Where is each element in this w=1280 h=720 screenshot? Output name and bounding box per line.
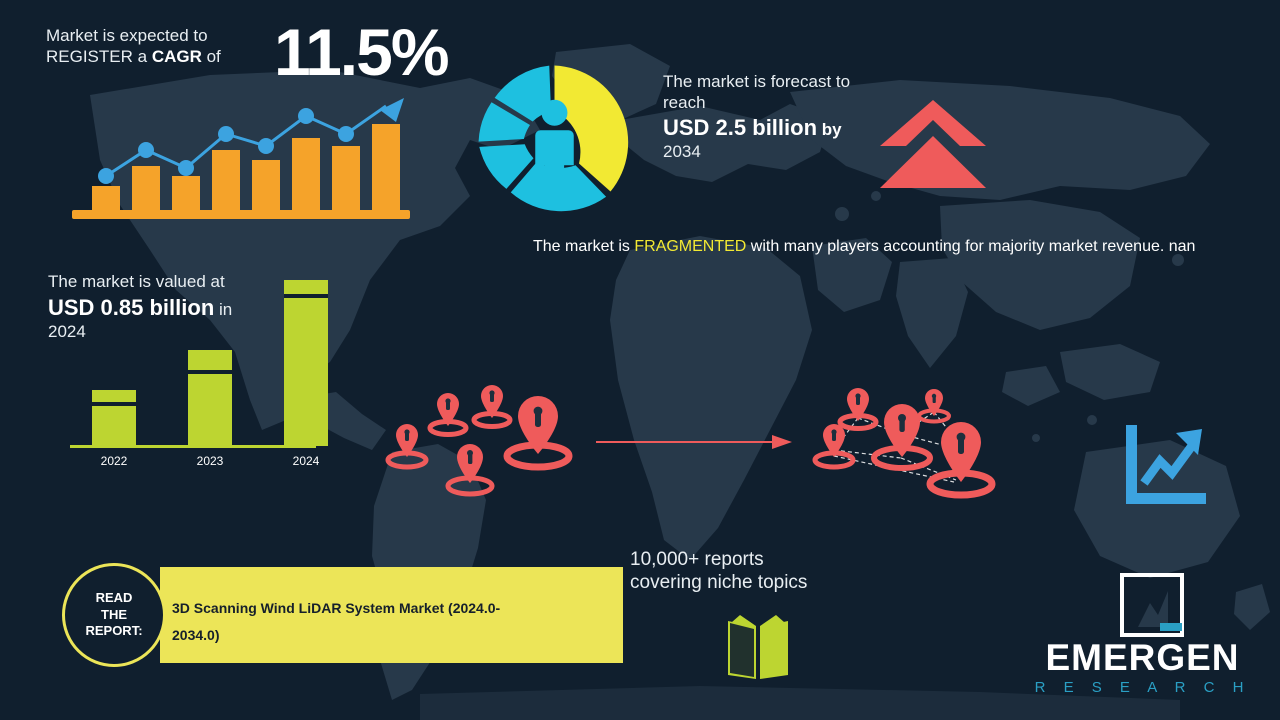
map-pin-icon	[919, 389, 949, 422]
map-pin-icon	[388, 424, 426, 467]
bar-label-2024: 2024	[284, 454, 328, 468]
forecast-block: The market is forecast to reach USD 2.5 …	[663, 72, 888, 163]
fragmentation-donut-chart	[467, 55, 642, 230]
cagr-block: Market is expected to REGISTER a CAGR of…	[46, 20, 466, 67]
logo-subtitle: R E S E A R C H	[1020, 679, 1265, 696]
bar-label-2022: 2022	[92, 454, 136, 468]
reports-block: 10,000+ reports covering niche topics	[630, 548, 880, 594]
cta-line1: READ	[96, 590, 133, 605]
fragmented-keyword: FRAGMENTED	[634, 238, 746, 255]
bar-group-2023: 2023	[188, 344, 232, 446]
forecast-value: USD 2.5 billion	[663, 115, 817, 140]
read-report-badge[interactable]: READ THE REPORT:	[62, 563, 166, 667]
cagr-line1: Market is expected to	[46, 26, 208, 45]
map-pin-icon	[815, 424, 853, 467]
cta-line2: THE	[101, 607, 127, 622]
map-pin-cluster-left	[382, 388, 587, 493]
bar-group-2024: 2024	[284, 274, 328, 446]
cagr-value: 11.5%	[274, 12, 448, 93]
trend-arrow-icon	[380, 98, 404, 122]
fragmented-block: The market is FRAGMENTED with many playe…	[533, 237, 1213, 257]
logo-name: EMERGEN	[1020, 637, 1265, 679]
logo-mark-icon	[1120, 573, 1184, 637]
reports-line1: 10,000+ reports	[630, 548, 880, 571]
map-pin-icon	[430, 393, 466, 435]
growth-chart-icon	[1122, 425, 1206, 509]
market-value-bar-chart: 2022 2023 2024	[70, 290, 340, 470]
map-pin-network-right	[806, 388, 1006, 498]
map-pin-icon	[474, 385, 510, 427]
growth-bar-chart	[66, 88, 416, 223]
bar-group-2022: 2022	[92, 384, 136, 446]
forecast-year: 2034	[663, 142, 888, 163]
cagr-line2-bold: CAGR	[152, 47, 202, 66]
forecast-line1: The market is forecast to	[663, 72, 888, 93]
map-pin-icon	[930, 422, 992, 495]
read-report-label: READ THE REPORT:	[85, 590, 142, 640]
report-title[interactable]: 3D Scanning Wind LiDAR System Market (20…	[172, 595, 522, 648]
map-pin-icon	[840, 388, 876, 429]
cagr-caption: Market is expected to REGISTER a CAGR of	[46, 20, 261, 67]
map-pin-icon	[507, 396, 569, 467]
forecast-by: by	[817, 120, 842, 139]
map-pin-icon	[448, 444, 492, 494]
cta-line3: REPORT:	[85, 623, 142, 638]
reports-line2: covering niche topics	[630, 571, 880, 594]
right-arrow-icon	[596, 432, 792, 452]
open-book-icon	[722, 613, 794, 681]
fragmented-post: with many players accounting for majorit…	[746, 238, 1195, 255]
infographic-canvas: Market is expected to REGISTER a CAGR of…	[0, 0, 1280, 720]
cagr-line2-pre: REGISTER a	[46, 47, 152, 66]
cagr-line2-post: of	[202, 47, 221, 66]
fragmented-pre: The market is	[533, 238, 634, 255]
double-chevron-up-icon	[878, 98, 988, 190]
forecast-line2: reach	[663, 93, 888, 114]
bar-label-2023: 2023	[188, 454, 232, 468]
